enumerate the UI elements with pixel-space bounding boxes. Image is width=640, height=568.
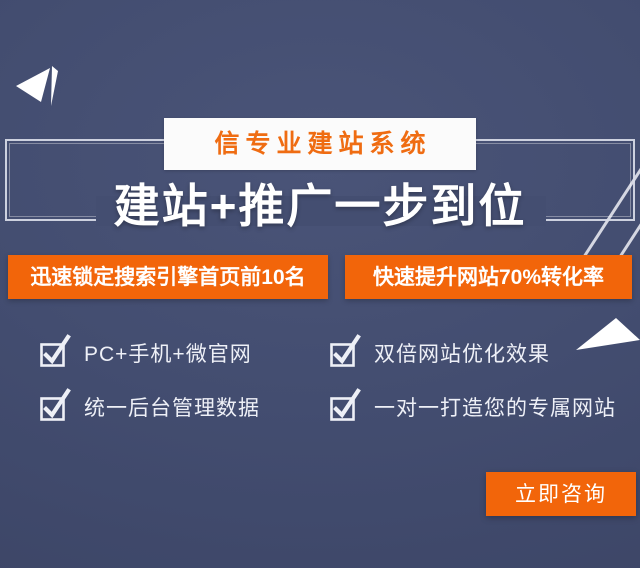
feature-item-label: 统一后台管理数据 (84, 398, 260, 419)
feature-item-label: PC+手机+微官网 (84, 344, 252, 365)
feature-list: PC+手机+微官网 双倍网站优化效果 统一后台管理数据 (0, 326, 640, 438)
checkbox-checked-icon (330, 341, 356, 367)
feature-item-label: 一对一打造您的专属网站 (374, 398, 616, 419)
checkbox-checked-icon (40, 395, 66, 421)
strap-bar-left: 迅速锁定搜索引擎首页前10名 (8, 255, 328, 299)
strap-bar-right-text: 快速提升网站70%转化率 (373, 267, 604, 288)
feature-item-label: 双倍网站优化效果 (374, 344, 550, 365)
headline-badge-text: 信专业建站系统 (208, 132, 431, 157)
checkbox-checked-icon (330, 395, 356, 421)
strap-bar-group: 迅速锁定搜索引擎首页前10名 快速提升网站70%转化率 (0, 255, 640, 299)
paper-plane-top-left-icon (14, 62, 74, 108)
feature-item-unified-backend: 统一后台管理数据 (40, 386, 260, 430)
feature-item-one-on-one-site: 一对一打造您的专属网站 (330, 386, 616, 430)
promo-banner: 信专业建站系统 建站+推广一步到位 迅速锁定搜索引擎首页前10名 快速提升网站7… (0, 0, 640, 568)
headline-badge: 信专业建站系统 (164, 118, 476, 170)
feature-item-pc-mobile-wechat: PC+手机+微官网 (40, 332, 252, 376)
feature-item-double-optimization: 双倍网站优化效果 (330, 332, 550, 376)
strap-bar-left-text: 迅速锁定搜索引擎首页前10名 (30, 267, 305, 288)
page-title: 建站+推广一步到位 (0, 175, 640, 237)
checkbox-checked-icon (40, 341, 66, 367)
consult-now-button[interactable]: 立即咨询 (486, 472, 636, 516)
page-title-text: 建站+推广一步到位 (100, 183, 541, 229)
strap-bar-right: 快速提升网站70%转化率 (345, 255, 632, 299)
consult-now-button-label: 立即咨询 (515, 484, 607, 505)
